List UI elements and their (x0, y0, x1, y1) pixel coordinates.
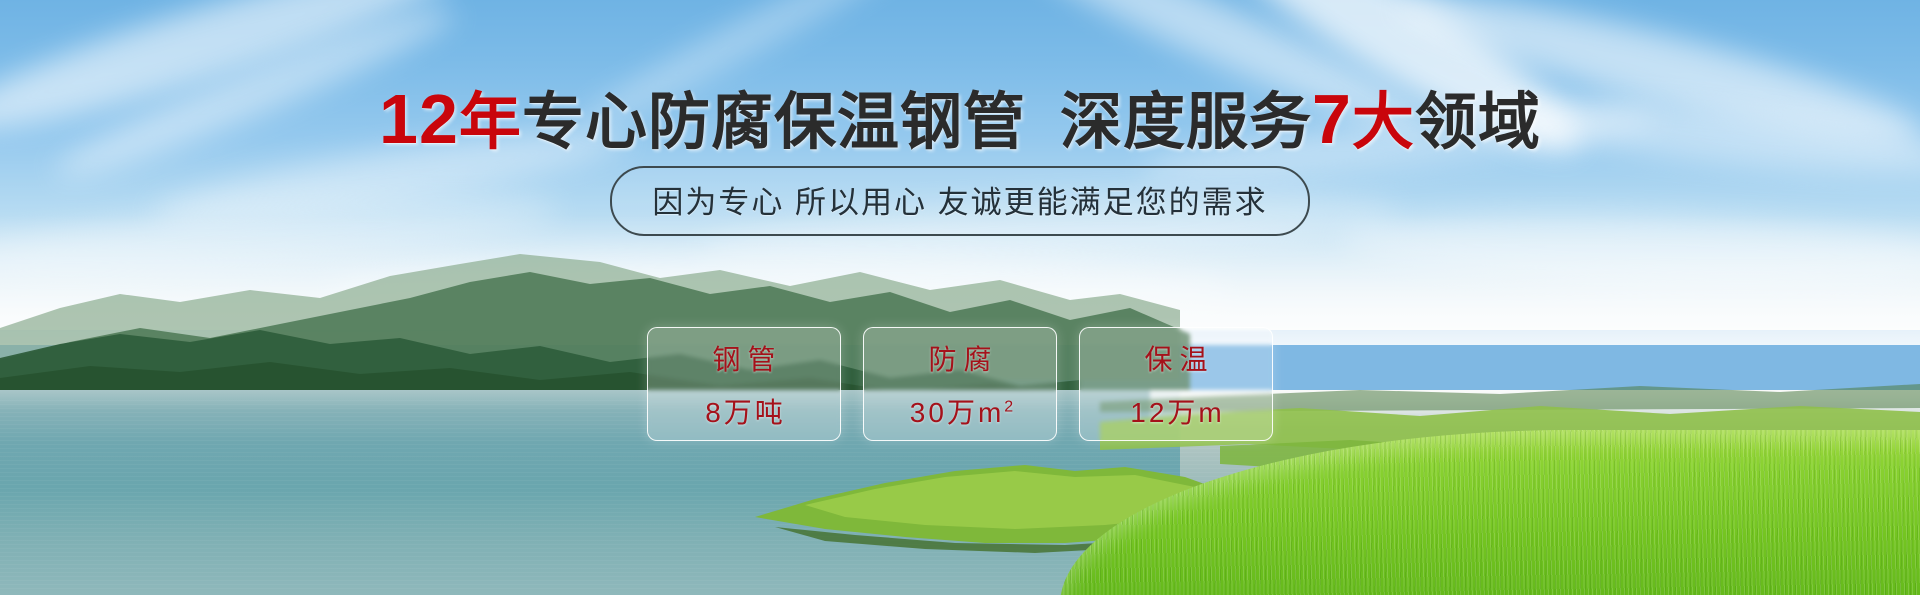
stat-card-value-text: 8万吨 (705, 397, 786, 428)
headline: 12年专心防腐保温钢管深度服务7大领域 (0, 84, 1920, 154)
headline-fields-unit: 大 (1352, 88, 1415, 157)
headline-years-unit: 年 (459, 88, 522, 157)
subtitle-pill: 因为专心 所以用心 友诚更能满足您的需求 (610, 166, 1309, 236)
headline-service-text: 深度服务 (1060, 88, 1312, 157)
banner-content: 12年专心防腐保温钢管深度服务7大领域 因为专心 所以用心 友诚更能满足您的需求… (0, 0, 1920, 595)
headline-years-number: 12 (379, 80, 459, 158)
stat-card-title: 保温 (1137, 338, 1214, 378)
stat-card-title: 钢管 (705, 338, 782, 378)
stat-card: 保温 12万m (1079, 327, 1273, 441)
stat-card-value-text: 12万m (1130, 397, 1224, 428)
stat-card-value: 30万m2 (907, 391, 1013, 431)
stat-card: 钢管 8万吨 (647, 327, 841, 441)
stat-card-list: 钢管 8万吨 防腐 30万m2 保温 12万m (0, 327, 1920, 441)
stat-card-value: 12万m (1127, 391, 1224, 431)
headline-fields-number: 7 (1312, 80, 1352, 158)
headline-main-text: 专心防腐保温钢管 (522, 88, 1026, 157)
stat-card-title: 防腐 (921, 338, 998, 378)
stat-card-value-superscript: 2 (1004, 398, 1013, 415)
subtitle-wrapper: 因为专心 所以用心 友诚更能满足您的需求 (0, 166, 1920, 236)
promo-banner: 12年专心防腐保温钢管深度服务7大领域 因为专心 所以用心 友诚更能满足您的需求… (0, 0, 1920, 595)
stat-card-value-text: 30万m (910, 397, 1004, 428)
headline-fields-tail: 领域 (1415, 88, 1541, 157)
stat-card-value: 8万吨 (702, 391, 786, 431)
stat-card: 防腐 30万m2 (863, 327, 1057, 441)
